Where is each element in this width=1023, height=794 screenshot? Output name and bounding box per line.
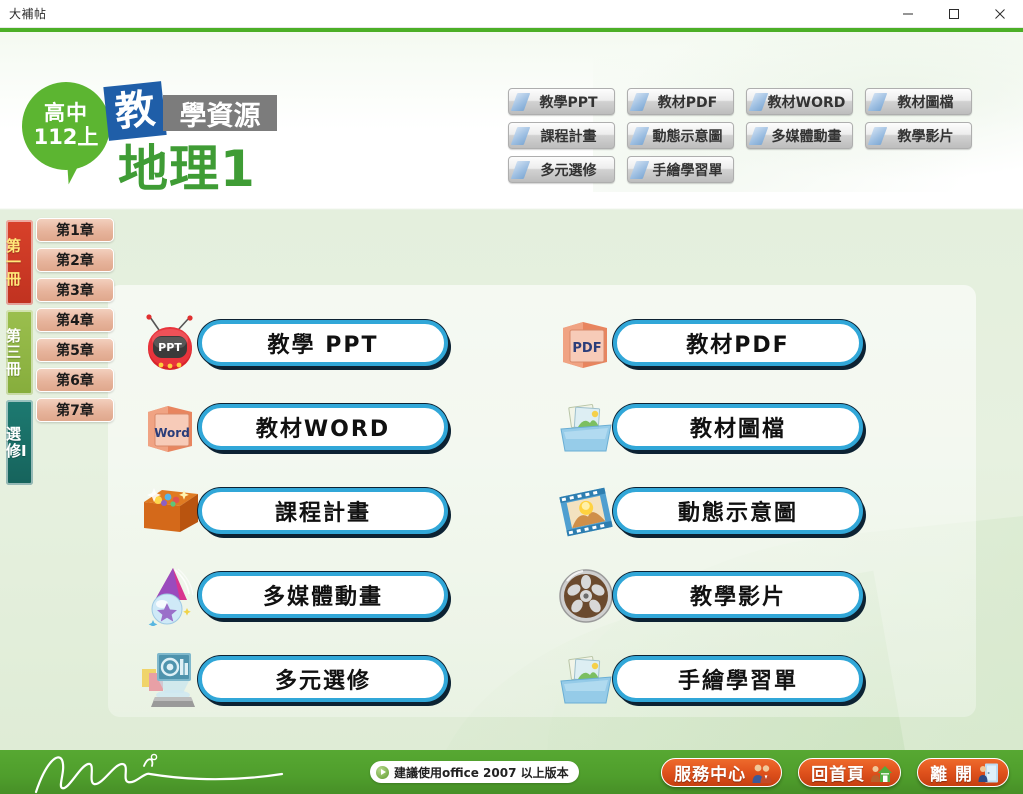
resource-label: 教學 PPT xyxy=(268,327,379,359)
resource-cell: 多元選修 xyxy=(130,646,545,714)
quicknav-item-word[interactable]: 教材WORD xyxy=(746,88,853,115)
window-title: 大補帖 xyxy=(0,5,47,22)
window-controls xyxy=(885,0,1023,28)
resource-label: 多媒體動畫 xyxy=(263,579,383,611)
quicknav-label: 教學影片 xyxy=(898,126,954,146)
pill-slash-icon xyxy=(511,127,531,145)
sidebar-item-chapter-6[interactable]: 第6章 xyxy=(36,368,114,392)
resource-cell: 手繪學習單 xyxy=(545,646,960,714)
brand-logo xyxy=(18,746,318,794)
quicknav-label: 教材WORD xyxy=(768,92,846,112)
resource-label: 動態示意圖 xyxy=(678,495,798,527)
resource-label: 教材PDF xyxy=(686,327,789,359)
pill-slash-icon xyxy=(868,93,888,111)
app-header: 高中 112上 教 學資源 地理1 教學PPT 教材PDF 教材WORD 教材圖… xyxy=(0,32,1023,210)
grade-badge-line1: 高中 xyxy=(44,102,88,126)
resource-label: 多元選修 xyxy=(275,663,371,695)
application-window: 高中 112上 教 學資源 地理1 教學PPT 教材PDF 教材WORD 教材圖… xyxy=(0,28,1023,794)
footer-button-label: 離 開 xyxy=(930,760,973,785)
pill-slash-icon xyxy=(868,127,888,145)
treasure-box-icon xyxy=(138,478,204,546)
svg-text:PPT: PPT xyxy=(158,341,182,354)
home-icon xyxy=(870,762,892,784)
sidebar: 第一冊 第三冊 選修I 第1章 第2章 第3章 第4章 第5章 第6章 第7章 xyxy=(0,218,118,738)
quicknav-item-worksheet[interactable]: 手繪學習單 xyxy=(627,156,734,183)
pill-slash-icon xyxy=(630,93,650,111)
resource-button-material-images[interactable]: 教材圖檔 xyxy=(613,404,863,450)
resource-row: PPT 教學 PPT xyxy=(130,310,960,378)
folder-word-icon: Word xyxy=(138,394,204,462)
quicknav-label: 動態示意圖 xyxy=(653,126,723,146)
quicknav-item-video[interactable]: 教學影片 xyxy=(865,122,972,149)
home-button[interactable]: 回首頁 xyxy=(798,758,901,787)
minimize-icon xyxy=(902,8,914,20)
sidebar-item-chapter-1[interactable]: 第1章 xyxy=(36,218,114,242)
projector-icon xyxy=(138,646,204,714)
people-icon xyxy=(751,762,773,784)
quicknav-label: 多元選修 xyxy=(541,160,597,180)
resource-row: 多媒體動畫 xyxy=(130,562,960,630)
pill-slash-icon xyxy=(630,161,650,179)
quicknav-item-ppt[interactable]: 教學PPT xyxy=(508,88,615,115)
quicknav-label: 教學PPT xyxy=(539,92,597,112)
sidebar-item-chapter-4[interactable]: 第4章 xyxy=(36,308,114,332)
resource-label: 課程計畫 xyxy=(275,495,371,527)
sidebar-item-chapter-2[interactable]: 第2章 xyxy=(36,248,114,272)
quicknav-label: 多媒體動畫 xyxy=(772,126,842,146)
office-recommendation-note: 建議使用office 2007 以上版本 xyxy=(370,761,579,783)
pill-slash-icon xyxy=(749,93,769,111)
resource-button-teaching-ppt[interactable]: 教學 PPT xyxy=(198,320,448,366)
resource-cell: 教學影片 xyxy=(545,562,960,630)
pill-slash-icon xyxy=(630,127,650,145)
film-reel-icon xyxy=(553,562,619,630)
resource-cell: 教材圖檔 xyxy=(545,394,960,462)
resource-button-material-word[interactable]: 教材WORD xyxy=(198,404,448,450)
resource-cell: 多媒體動畫 xyxy=(130,562,545,630)
resource-button-elective[interactable]: 多元選修 xyxy=(198,656,448,702)
resource-label: 手繪學習單 xyxy=(678,663,798,695)
service-center-button[interactable]: 服務中心 xyxy=(661,758,782,787)
pill-slash-icon xyxy=(511,93,531,111)
grade-badge-line2: 112上 xyxy=(34,126,99,150)
resource-button-worksheet[interactable]: 手繪學習單 xyxy=(613,656,863,702)
svg-text:PDF: PDF xyxy=(572,341,601,356)
page-title: 地理1 xyxy=(118,144,256,194)
quick-nav: 教學PPT 教材PDF 教材WORD 教材圖檔 課程計畫 動態示意圖 xyxy=(508,88,1008,183)
quicknav-label: 教材PDF xyxy=(658,92,717,112)
resource-grid: PPT 教學 PPT xyxy=(130,310,960,730)
maximize-button[interactable] xyxy=(931,0,977,28)
exit-door-icon xyxy=(978,762,1000,784)
window-title-bar: 大補帖 xyxy=(0,0,1023,28)
quicknav-item-syllabus[interactable]: 課程計畫 xyxy=(508,122,615,149)
resource-label: 教材圖檔 xyxy=(690,411,786,443)
resource-button-course-plan[interactable]: 課程計畫 xyxy=(198,488,448,534)
office-note-text: 建議使用office 2007 以上版本 xyxy=(394,764,569,781)
photo-tray-icon xyxy=(553,394,619,462)
quicknav-item-images[interactable]: 教材圖檔 xyxy=(865,88,972,115)
logo-subtitle: 學資源 xyxy=(163,95,277,131)
grade-badge: 高中 112上 xyxy=(22,82,110,170)
photo-tray-icon xyxy=(553,646,619,714)
sidebar-volume-elective[interactable]: 選修I xyxy=(6,400,33,485)
minimize-button[interactable] xyxy=(885,0,931,28)
maximize-icon xyxy=(948,8,960,20)
close-button[interactable] xyxy=(977,0,1023,28)
play-icon xyxy=(376,766,389,779)
footer-button-label: 服務中心 xyxy=(674,760,746,785)
resource-cell: Word 教材WORD xyxy=(130,394,545,462)
quicknav-item-elective[interactable]: 多元選修 xyxy=(508,156,615,183)
close-icon xyxy=(994,8,1006,20)
footer-buttons: 服務中心 回首頁 xyxy=(661,758,1009,787)
resource-cell: PDF 教材PDF xyxy=(545,310,960,378)
content-area: 第一冊 第三冊 選修I 第1章 第2章 第3章 第4章 第5章 第6章 第7章 xyxy=(0,210,1023,750)
exit-button[interactable]: 離 開 xyxy=(917,758,1009,787)
resource-label: 教材WORD xyxy=(256,411,390,443)
sidebar-item-chapter-5[interactable]: 第5章 xyxy=(36,338,114,362)
quicknav-label: 手繪學習單 xyxy=(653,160,723,180)
app-footer: 建議使用office 2007 以上版本 服務中心 回首頁 xyxy=(0,750,1023,794)
svg-text:Word: Word xyxy=(154,426,190,440)
film-strip-icon xyxy=(553,478,619,546)
quicknav-item-animation-diagram[interactable]: 動態示意圖 xyxy=(627,122,734,149)
sidebar-volume-3[interactable]: 第三冊 xyxy=(6,310,33,395)
quicknav-item-pdf[interactable]: 教材PDF xyxy=(627,88,734,115)
quicknav-label: 教材圖檔 xyxy=(898,92,954,112)
logo-mark: 教 xyxy=(103,81,166,141)
quicknav-label: 課程計畫 xyxy=(541,126,597,146)
pill-slash-icon xyxy=(511,161,531,179)
resource-row: 課程計畫 xyxy=(130,478,960,546)
resource-cell: 課程計畫 xyxy=(130,478,545,546)
tv-ppt-icon: PPT xyxy=(138,310,204,378)
footer-button-label: 回首頁 xyxy=(811,760,865,785)
quicknav-item-multimedia[interactable]: 多媒體動畫 xyxy=(746,122,853,149)
resource-cell: PPT 教學 PPT xyxy=(130,310,545,378)
folder-pdf-icon: PDF xyxy=(553,310,619,378)
resource-button-teaching-video[interactable]: 教學影片 xyxy=(613,572,863,618)
resource-row: 多元選修 xyxy=(130,646,960,714)
sidebar-item-chapter-3[interactable]: 第3章 xyxy=(36,278,114,302)
resource-button-multimedia-animation[interactable]: 多媒體動畫 xyxy=(198,572,448,618)
resource-button-animated-diagram[interactable]: 動態示意圖 xyxy=(613,488,863,534)
resource-label: 教學影片 xyxy=(690,579,786,611)
magic-hat-icon xyxy=(138,562,204,630)
pill-slash-icon xyxy=(749,127,769,145)
sidebar-volume-1[interactable]: 第一冊 xyxy=(6,220,33,305)
resource-row: Word 教材WORD xyxy=(130,394,960,462)
resource-cell: 動態示意圖 xyxy=(545,478,960,546)
chapter-list: 第1章 第2章 第3章 第4章 第5章 第6章 第7章 xyxy=(36,218,118,428)
sidebar-item-chapter-7[interactable]: 第7章 xyxy=(36,398,114,422)
resource-button-material-pdf[interactable]: 教材PDF xyxy=(613,320,863,366)
